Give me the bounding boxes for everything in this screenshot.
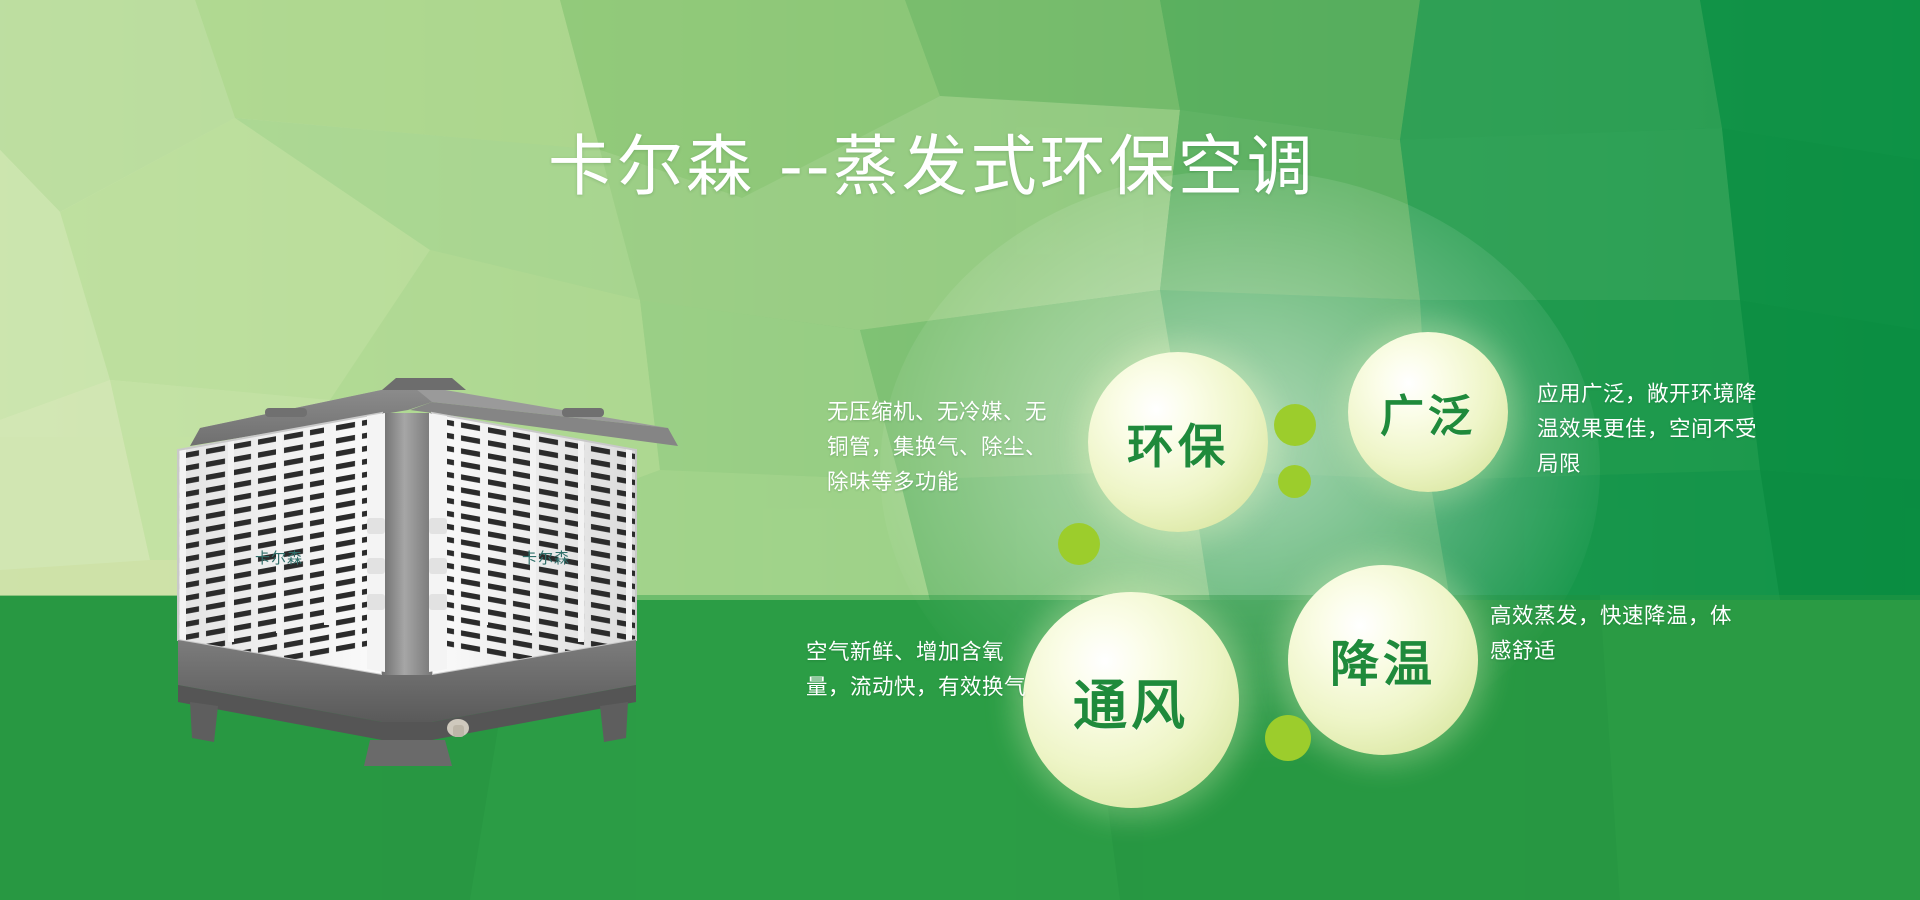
feature-circle-huanbao[interactable]: 环保 [1088, 352, 1268, 532]
product-brand-label-left: 卡尔森 [255, 549, 303, 567]
accent-dot [1265, 715, 1311, 761]
feature-circle-tongfeng[interactable]: 通风 [1023, 592, 1239, 808]
feature-text-guangfan: 应用广泛，敞开环境降温效果更佳，空间不受局限 [1537, 378, 1769, 482]
feature-text-jiangwen: 高效蒸发，快速降温，体感舒适 [1490, 600, 1740, 670]
feature-circle-label: 通风 [1073, 661, 1189, 740]
feature-circle-label: 广泛 [1380, 380, 1476, 444]
page-title: 卡尔森 --蒸发式环保空调 [548, 128, 1316, 206]
product-image-air-cooler: 卡尔森 卡尔森 [170, 350, 700, 770]
feature-circle-label: 降温 [1330, 625, 1436, 696]
feature-circle-jiangwen[interactable]: 降温 [1288, 565, 1478, 755]
product-brand-label-right: 卡尔森 [522, 549, 570, 567]
promo-banner: 卡尔森 --蒸发式环保空调 [0, 0, 1920, 900]
accent-dot [1278, 465, 1311, 498]
accent-dot [1274, 404, 1316, 446]
feature-circle-guangfan[interactable]: 广泛 [1348, 332, 1508, 492]
accent-dot [1058, 523, 1100, 565]
feature-text-huanbao: 无压缩机、无冷媒、无铜管，集换气、除尘、除味等多功能 [827, 396, 1067, 500]
feature-text-tongfeng: 空气新鲜、增加含氧量，流动快，有效换气 [806, 636, 1032, 706]
feature-circle-label: 环保 [1127, 408, 1229, 477]
